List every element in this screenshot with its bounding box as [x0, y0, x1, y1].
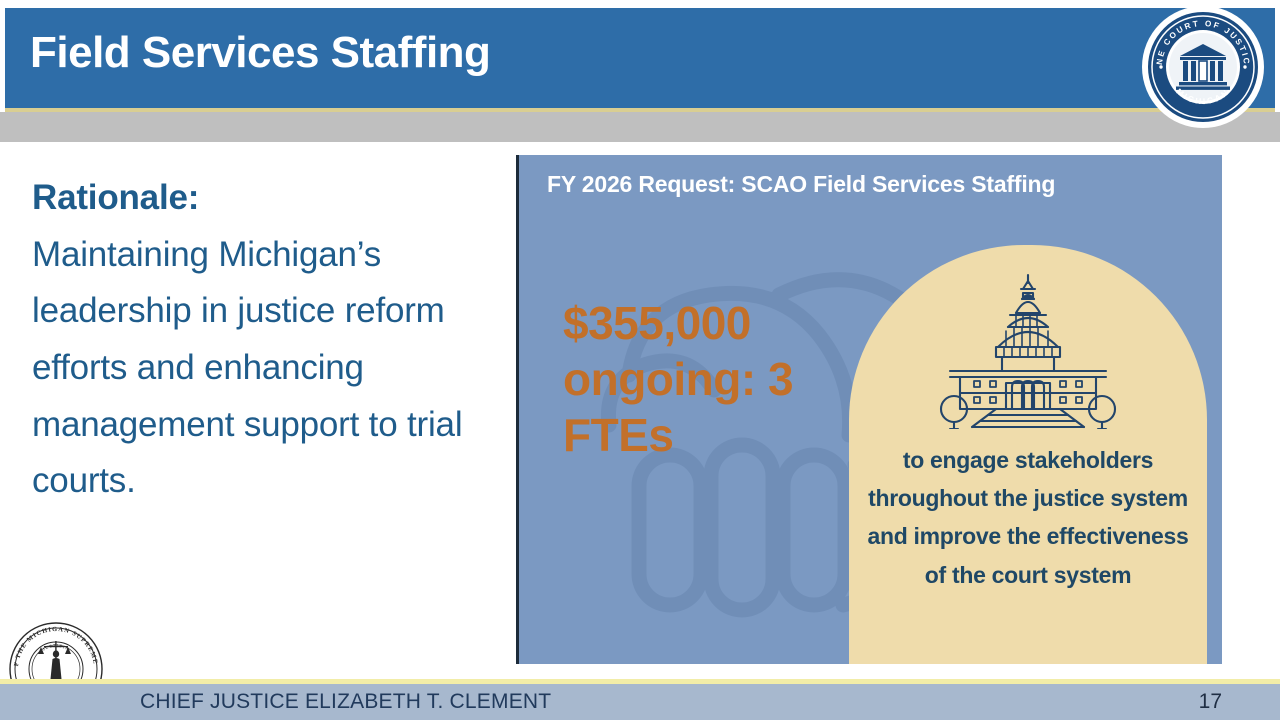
one-court-of-justice-logo: ONE COURT OF JUSTICE MICHIGAN — [1144, 8, 1262, 126]
presenter-name: CHIEF JUSTICE ELIZABETH T. CLEMENT — [140, 690, 551, 714]
page-title: Field Services Staffing — [30, 28, 490, 78]
amount-callout: $355,000 ongoing: 3 FTEs — [563, 295, 833, 463]
panel-title: FY 2026 Request: SCAO Field Services Sta… — [547, 171, 1055, 198]
page-number: 17 — [1199, 690, 1222, 714]
slide-title-bar: Field Services Staffing — [5, 8, 1275, 108]
rationale-block: Rationale: Maintaining Michigan’s leader… — [32, 170, 482, 510]
slide-canvas: Field Services Staffing — [0, 0, 1280, 720]
infographic-panel: FY 2026 Request: SCAO Field Services Sta… — [516, 155, 1222, 664]
arch-card: to engage stakeholders throughout the ju… — [849, 245, 1207, 664]
rationale-heading: Rationale: — [32, 170, 482, 227]
rationale-body: Maintaining Michigan’s leadership in jus… — [32, 227, 482, 510]
header-gray-band — [0, 112, 1280, 142]
arch-card-text: to engage stakeholders throughout the ju… — [863, 441, 1193, 594]
capitol-building-icon — [930, 269, 1126, 429]
